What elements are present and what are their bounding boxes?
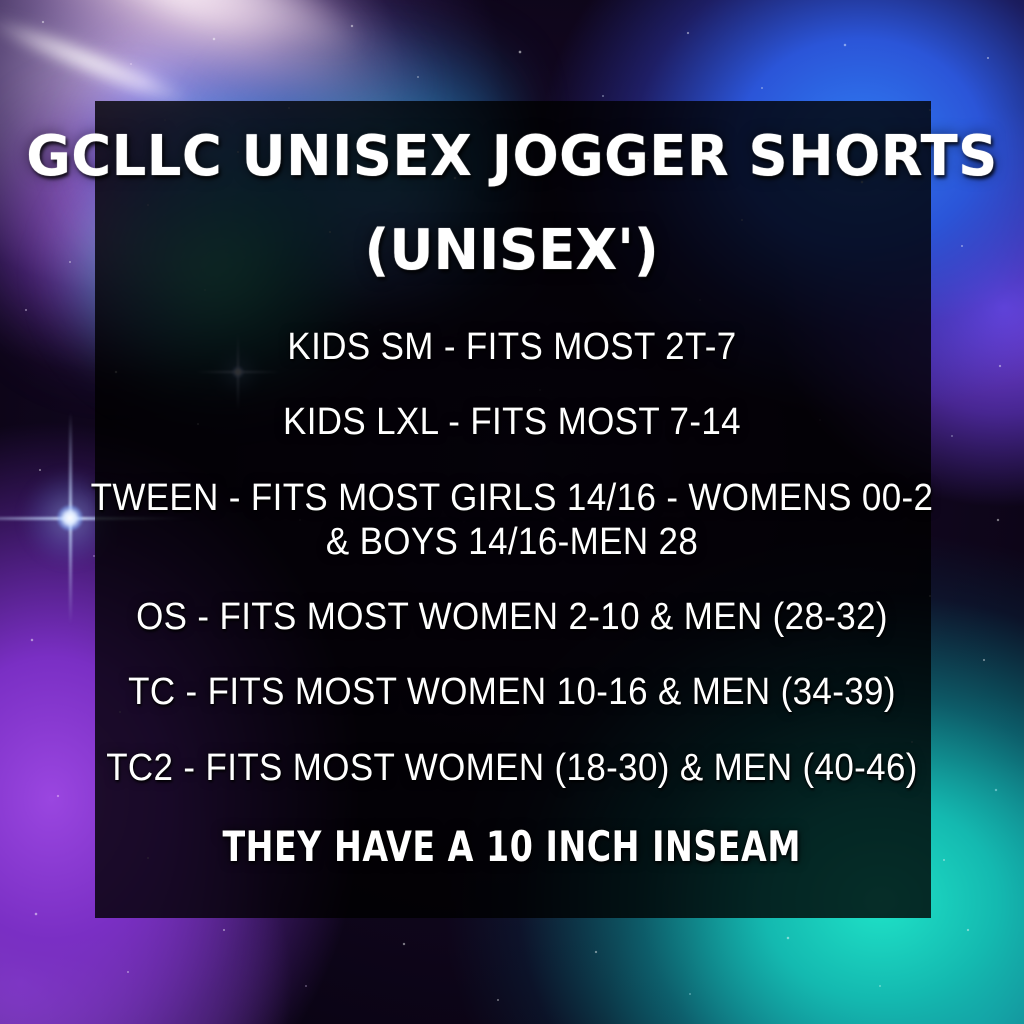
size-line-os: OS - FITS MOST WOMEN 2-10 & MEN (28-32) <box>70 597 953 637</box>
size-line-tc: TC - FITS MOST WOMEN 10-16 & MEN (34-39) <box>70 672 953 712</box>
galaxy-size-chart-poster: GCLLC UNISEX JOGGER SHORTS (UNISEX') KID… <box>0 0 1024 1024</box>
poster-subtitle: (UNISEX') <box>365 223 659 279</box>
inseam-note: THEY HAVE A 10 INCH INSEAM <box>223 825 802 869</box>
size-line-kids-sm: KIDS SM - FITS MOST 2T-7 <box>70 327 953 367</box>
poster-content: GCLLC UNISEX JOGGER SHORTS (UNISEX') KID… <box>0 0 1024 1024</box>
size-line-kids-lxl: KIDS LXL - FITS MOST 7-14 <box>70 402 953 442</box>
poster-title: GCLLC UNISEX JOGGER SHORTS <box>15 129 1008 185</box>
size-line-tc2: TC2 - FITS MOST WOMEN (18-30) & MEN (40-… <box>70 748 953 788</box>
size-line-tween: TWEEN - FITS MOST GIRLS 14/16 - WOMENS 0… <box>70 478 953 518</box>
size-line-tween-continued: & BOYS 14/16-MEN 28 <box>70 522 953 562</box>
size-chart-lines: KIDS SM - FITS MOST 2T-7 KIDS LXL - FITS… <box>0 327 1024 788</box>
